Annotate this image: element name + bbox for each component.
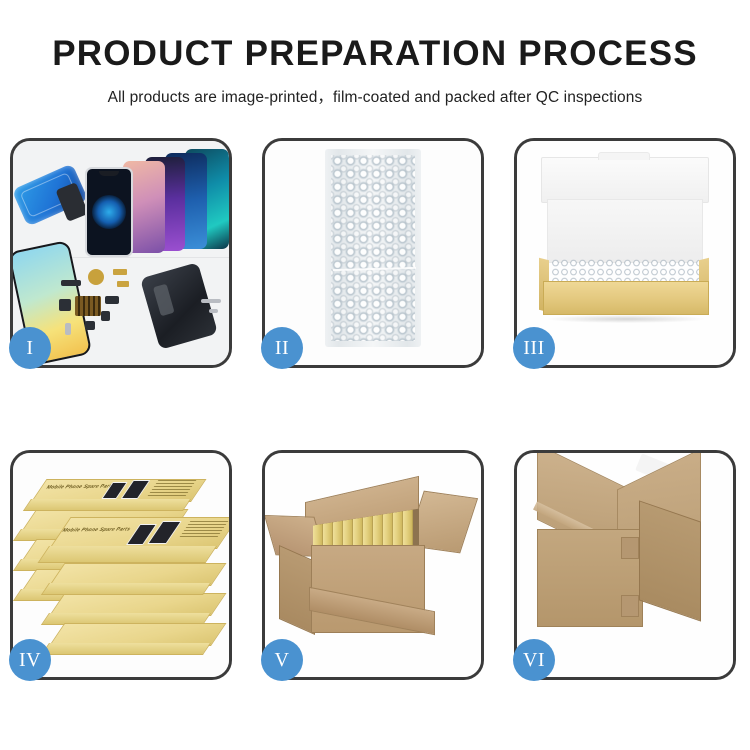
step-panel-4: Mobile Phone Spare Parts	[10, 450, 232, 680]
step-badge-1: I	[9, 327, 51, 369]
step-panel-2: II	[262, 138, 484, 368]
inner-box-back-panel	[547, 199, 703, 263]
step-image-bubble-wrap-packing	[265, 141, 481, 365]
step-image-boxes-stacked: Mobile Phone Spare Parts	[13, 453, 229, 677]
box-label-2: Mobile Phone Spare Parts	[61, 526, 132, 533]
stacked-box-printed-top: Mobile Phone Spare Parts	[31, 479, 189, 509]
inner-box-lid-icon	[541, 157, 709, 203]
stacked-box-f2	[49, 563, 209, 593]
step-badge-5: V	[261, 639, 303, 681]
step-image-products-and-spare-parts	[13, 141, 229, 365]
step-badge-6: VI	[513, 639, 555, 681]
step-badge-4: IV	[9, 639, 51, 681]
step-image-inner-box-packing	[517, 141, 733, 365]
carton-right-side-sealed	[639, 500, 701, 621]
page-title: PRODUCT PREPARATION PROCESS	[0, 36, 750, 71]
part-camera-icon	[101, 311, 110, 321]
inner-box-front-panel	[543, 281, 709, 315]
header: PRODUCT PREPARATION PROCESS All products…	[0, 0, 750, 107]
box-label-1: Mobile Phone Spare Parts	[45, 483, 116, 490]
part-tool-icon	[201, 299, 221, 303]
step-panel-1: I	[10, 138, 232, 368]
page-subtitle: All products are image-printed，film-coat…	[0, 85, 750, 107]
part-sim-tray-icon	[65, 323, 71, 335]
step-panel-6: VI	[514, 450, 736, 680]
part-logic-board-icon	[75, 296, 101, 316]
step-panel-3: III	[514, 138, 736, 368]
part-screw-icon	[209, 309, 218, 313]
carton-handle-tab-top	[621, 537, 639, 559]
product-preparation-infographic: PRODUCT PREPARATION PROCESS All products…	[0, 0, 750, 750]
step-image-carton-filling	[265, 453, 481, 677]
part-speaker-gold-icon	[88, 269, 104, 285]
drop-shadow	[547, 315, 705, 323]
part-module-icon	[59, 299, 71, 311]
stacked-box-f4	[49, 623, 209, 653]
bubble-pattern-highlight	[331, 155, 415, 341]
step-image-carton-sealed	[517, 453, 733, 677]
step-badge-2: II	[261, 327, 303, 369]
stacked-box-printed-front: Mobile Phone Spare Parts	[49, 517, 215, 563]
carton-handle-tab-bottom	[621, 595, 639, 617]
step-panel-5: V	[262, 450, 484, 680]
step-badge-3: III	[513, 327, 555, 369]
part-chip-icon	[61, 280, 81, 286]
part-flex-cable-2-icon	[117, 281, 129, 287]
bubble-wrap-sleeve-icon	[325, 149, 421, 347]
part-button-icon	[85, 321, 95, 330]
part-flex-cable-icon	[113, 269, 127, 275]
stacked-box-f3	[49, 593, 209, 623]
phone-back-housing-icon	[140, 262, 218, 350]
steps-grid: I II III	[10, 138, 740, 680]
phone-screen-glass-icon	[85, 167, 133, 257]
bubble-wrapped-contents-icon	[551, 259, 699, 283]
box-stack-icon: Mobile Phone Spare Parts	[21, 465, 227, 661]
phone-small-dark-icon	[55, 182, 88, 222]
part-connector-icon	[105, 296, 119, 304]
